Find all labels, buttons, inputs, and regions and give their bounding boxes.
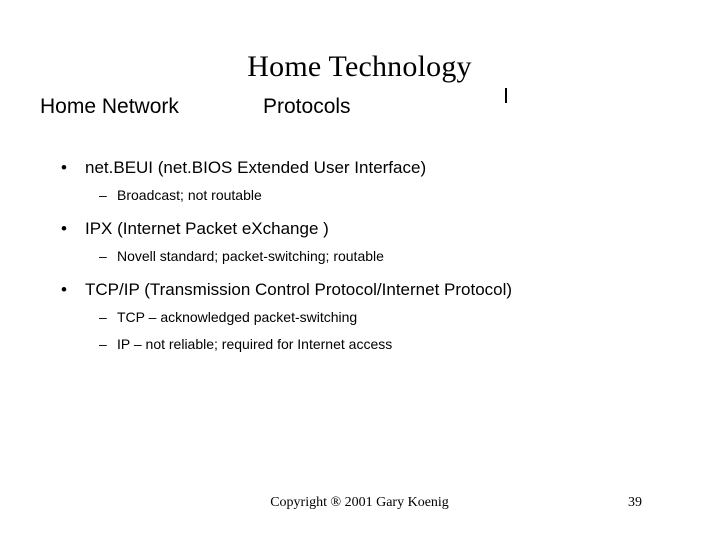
- dash-icon: –: [99, 185, 107, 205]
- bullet-list: • net.BEUI (net.BIOS Extended User Inter…: [0, 157, 719, 361]
- sub-list-item-label: Novell standard; packet-switching; routa…: [117, 248, 384, 264]
- list-item: • net.BEUI (net.BIOS Extended User Inter…: [0, 157, 719, 185]
- bullet-dot-icon: •: [61, 157, 67, 179]
- sub-list-item: – Broadcast; not routable: [0, 185, 719, 212]
- list-item-label: IPX (Internet Packet eXchange ): [85, 219, 329, 238]
- footer-copyright: Copyright ® 2001 Gary Koenig: [0, 494, 719, 512]
- sub-list-item-label: Broadcast; not routable: [117, 187, 262, 203]
- bullet-group: • net.BEUI (net.BIOS Extended User Inter…: [0, 157, 719, 212]
- sub-list-item-label: TCP – acknowledged packet-switching: [117, 309, 357, 325]
- list-item: • TCP/IP (Transmission Control Protocol/…: [0, 279, 719, 307]
- subtitle-home-network: Home Network: [40, 94, 179, 120]
- dash-icon: –: [99, 334, 107, 354]
- list-item-label: net.BEUI (net.BIOS Extended User Interfa…: [85, 158, 426, 177]
- bullet-group: • IPX (Internet Packet eXchange ) – Nove…: [0, 218, 719, 273]
- bullet-group: • TCP/IP (Transmission Control Protocol/…: [0, 279, 719, 361]
- presentation-slide: Home Technology Home Network Protocols •…: [0, 0, 719, 539]
- dash-icon: –: [99, 307, 107, 327]
- dash-icon: –: [99, 246, 107, 266]
- sub-list-item: – IP – not reliable; required for Intern…: [0, 334, 719, 361]
- sub-list-item-label: IP – not reliable; required for Internet…: [117, 336, 392, 352]
- subtitle-protocols: Protocols: [263, 94, 351, 120]
- subtitle-row: Home Network Protocols: [0, 94, 719, 122]
- page-number: 39: [628, 494, 668, 512]
- list-item-label: TCP/IP (Transmission Control Protocol/In…: [85, 280, 512, 299]
- page-title: Home Technology: [0, 50, 719, 84]
- list-item: • IPX (Internet Packet eXchange ): [0, 218, 719, 246]
- sub-list-item: – TCP – acknowledged packet-switching: [0, 307, 719, 334]
- bullet-dot-icon: •: [61, 218, 67, 240]
- sub-list-item: – Novell standard; packet-switching; rou…: [0, 246, 719, 273]
- bullet-dot-icon: •: [61, 279, 67, 301]
- text-cursor-caret[interactable]: [505, 88, 507, 103]
